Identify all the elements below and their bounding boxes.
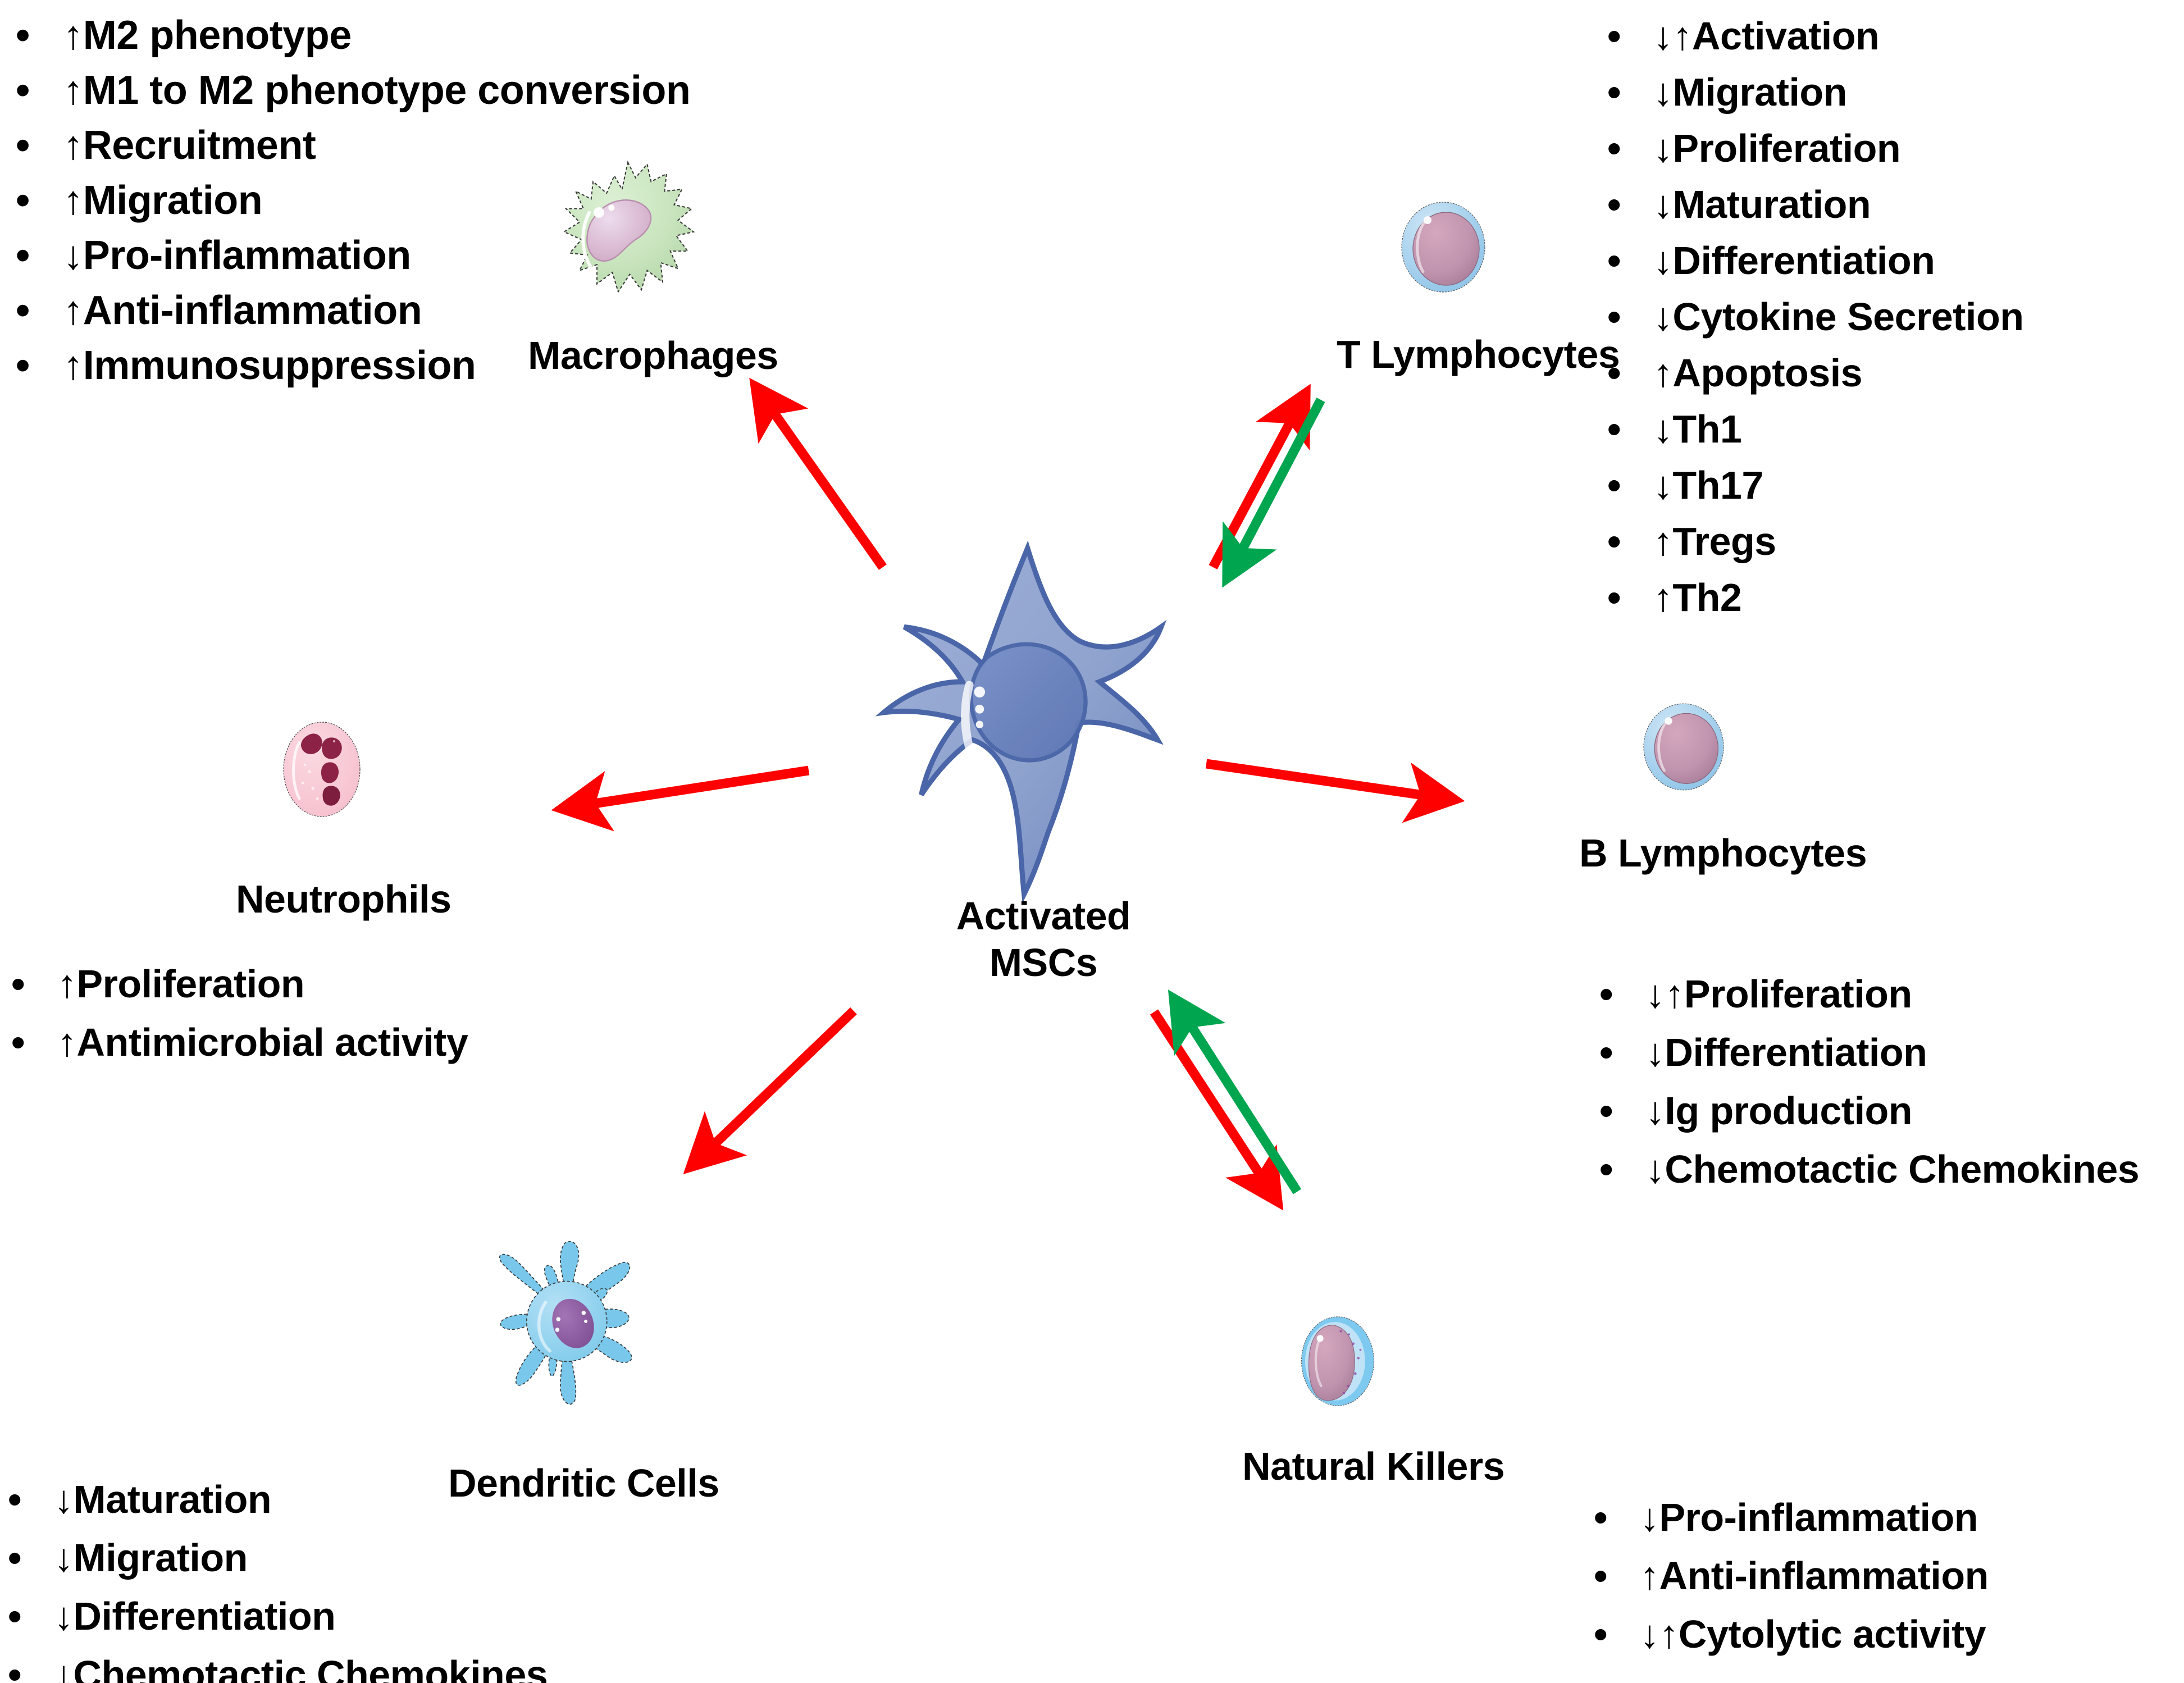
bullet-gap — [1624, 1023, 1645, 1082]
bullet-gap — [41, 63, 63, 118]
bullet-icon: • — [1607, 401, 1631, 457]
effect-label: Differentiation — [1672, 232, 1935, 289]
cell-illustration-t-lymphocyte — [1402, 202, 1485, 292]
arrow-down-icon: ↓ — [1645, 1082, 1665, 1140]
bullet-icon: • — [1594, 1547, 1618, 1605]
bullet-icon: • — [1599, 1140, 1624, 1198]
bullet-gap — [1618, 1605, 1640, 1663]
arrow-up-icon: ↑ — [63, 63, 83, 118]
bullet-gap — [1624, 965, 1645, 1023]
bullet-icon: • — [11, 955, 35, 1013]
effect-item: • ↑M2 phenotype — [16, 8, 690, 63]
cell-label-b-lymphocytes: B Lymphocytes — [1579, 830, 1867, 877]
effect-label: Chemotactic Chemokines — [73, 1645, 548, 1683]
effect-item: • ↓Maturation — [1607, 176, 2023, 232]
bullet-icon: • — [1599, 1023, 1624, 1082]
effect-label: Proliferation — [1684, 965, 1912, 1023]
bullet-icon: • — [8, 1587, 32, 1645]
arrow-up-icon: ↑ — [1653, 569, 1673, 626]
effect-item: • ↑Proliferation — [11, 955, 468, 1013]
arrow-up-icon: ↑ — [1653, 345, 1673, 401]
arrow-naturalkillers-to-msc — [1174, 998, 1297, 1192]
effect-label: Anti-inflammation — [1659, 1547, 1988, 1605]
arrow-down-icon: ↓ — [1645, 1140, 1665, 1198]
arrow-down-icon: ↓ — [1653, 289, 1673, 345]
arrow-down-icon: ↓ — [1653, 120, 1673, 176]
bullet-icon: • — [1607, 457, 1631, 513]
arrow-up-icon: ↑ — [63, 283, 83, 338]
bullet-icon: • — [8, 1529, 32, 1587]
bullet-gap — [1631, 289, 1653, 345]
bullet-gap — [41, 283, 63, 338]
bullet-icon: • — [8, 1470, 32, 1529]
effect-item: • ↓Differentiation — [1599, 1023, 2139, 1082]
arrow-up-icon: ↑ — [63, 173, 83, 228]
effect-item: • ↑Antimicrobial activity — [11, 1013, 468, 1071]
arrow-up-icon: ↑ — [57, 1013, 77, 1071]
bullet-gap — [32, 1645, 54, 1683]
arrow-updown-icon: ↓↑ — [1640, 1605, 1679, 1663]
bullet-gap — [41, 8, 63, 63]
effect-label: Maturation — [73, 1470, 271, 1529]
bullet-icon: • — [1594, 1605, 1618, 1663]
effect-label: Th2 — [1672, 569, 1741, 626]
arrow-msc-to-dendriticcells — [691, 1011, 854, 1167]
bullet-gap — [41, 173, 63, 228]
effect-item: • ↑Apoptosis — [1607, 345, 2023, 401]
bullet-gap — [1631, 176, 1653, 232]
bullet-gap — [32, 1470, 54, 1529]
bullet-gap — [1631, 232, 1653, 289]
center-label-line1: Activated — [937, 893, 1150, 939]
effect-label: Immunosuppression — [83, 338, 476, 393]
arrow-msc-to-macrophages — [755, 386, 883, 567]
arrow-msc-to-tlymphocytes — [1213, 393, 1306, 567]
diagram-canvas: • ↑M2 phenotype• ↑M1 to M2 phenotype con… — [0, 0, 2184, 1683]
arrow-down-icon: ↓ — [1645, 1023, 1665, 1082]
effect-label: Cytolytic activity — [1679, 1605, 1986, 1663]
cell-illustration-dendritic-cell — [500, 1242, 632, 1404]
arrow-down-icon: ↓ — [63, 228, 83, 283]
bullet-icon: • — [16, 338, 41, 393]
effect-item: • ↓Migration — [1607, 64, 2023, 120]
effect-label: Pro-inflammation — [83, 228, 411, 283]
bullet-icon: • — [1594, 1488, 1618, 1547]
bullet-icon: • — [16, 173, 41, 228]
bullet-gap — [41, 228, 63, 283]
bullet-icon: • — [1599, 965, 1624, 1023]
arrow-msc-to-naturalkillers — [1154, 1012, 1278, 1202]
arrow-msc-to-neutrophils — [562, 770, 809, 809]
bullet-gap — [1624, 1082, 1645, 1140]
bullet-gap — [32, 1587, 54, 1645]
arrow-down-icon: ↓ — [54, 1645, 74, 1683]
arrow-down-icon: ↓ — [54, 1470, 74, 1529]
bullet-icon: • — [16, 228, 41, 283]
effects-list-dendritic-cells: • ↓Maturation• ↓Migration• ↓Differentiat… — [8, 1470, 548, 1683]
bullet-icon: • — [1607, 120, 1631, 176]
effect-label: Migration — [73, 1529, 247, 1587]
effect-item: • ↓↑Activation — [1607, 8, 2023, 64]
effect-item: • ↓Th17 — [1607, 457, 2023, 513]
effect-item: • ↓Differentiation — [1607, 232, 2023, 289]
cell-label-neutrophils: Neutrophils — [236, 876, 451, 923]
effect-item: • ↓↑Cytolytic activity — [1594, 1605, 1989, 1663]
bullet-gap — [1624, 1140, 1645, 1198]
bullet-icon: • — [16, 283, 41, 338]
arrow-down-icon: ↓ — [54, 1587, 74, 1645]
effect-label: Differentiation — [73, 1587, 335, 1645]
bullet-icon: • — [1607, 569, 1631, 626]
bullet-icon: • — [1607, 64, 1631, 120]
effect-label: Th1 — [1672, 401, 1741, 457]
effects-list-b-lymphocytes: • ↓↑Proliferation• ↓Differentiation• ↓Ig… — [1599, 965, 2139, 1198]
effect-label: Cytokine Secretion — [1672, 289, 2023, 345]
cell-label-t-lymphocytes: T Lymphocytes — [1337, 331, 1620, 378]
effect-item: • ↓Proliferation — [1607, 120, 2023, 176]
effect-label: Apoptosis — [1672, 345, 1862, 401]
bullet-icon: • — [16, 118, 41, 173]
bullet-gap — [1631, 457, 1653, 513]
arrow-down-icon: ↓ — [1653, 232, 1673, 289]
effect-item: • ↑Migration — [16, 173, 690, 228]
arrow-updown-icon: ↓↑ — [1645, 965, 1684, 1023]
effect-label: Anti-inflammation — [83, 283, 422, 338]
arrow-msc-to-blymphocytes — [1206, 764, 1455, 800]
effect-label: Proliferation — [76, 955, 304, 1013]
bullet-gap — [1631, 8, 1653, 64]
cell-label-natural-killers: Natural Killers — [1242, 1443, 1504, 1490]
cell-illustration-b-lymphocyte — [1644, 704, 1724, 790]
effect-label: M1 to M2 phenotype conversion — [83, 63, 691, 118]
arrow-down-icon: ↓ — [1640, 1488, 1659, 1547]
arrow-group — [562, 386, 1455, 1202]
bullet-gap — [1631, 513, 1653, 569]
effect-item: • ↓Th1 — [1607, 401, 2023, 457]
effects-list-natural-killers: • ↓Pro-inflammation• ↑Anti-inflammation•… — [1594, 1488, 1989, 1663]
bullet-icon: • — [1607, 232, 1631, 289]
effect-label: Pro-inflammation — [1659, 1488, 1978, 1547]
bullet-icon: • — [1607, 8, 1631, 64]
bullet-gap — [1631, 120, 1653, 176]
cell-illustration-natural-killer — [1302, 1317, 1374, 1406]
effect-label: Tregs — [1672, 513, 1776, 569]
effect-label: Recruitment — [83, 118, 316, 173]
arrow-down-icon: ↓ — [1653, 64, 1673, 120]
bullet-gap — [35, 1013, 57, 1071]
effect-label: Migration — [1672, 64, 1846, 120]
effect-item: • ↑Th2 — [1607, 569, 2023, 626]
center-label-activated-mscs: Activated MSCs — [937, 893, 1150, 986]
arrow-down-icon: ↓ — [1653, 401, 1673, 457]
arrow-up-icon: ↑ — [63, 118, 83, 173]
effect-item: • ↓Pro-inflammation — [1594, 1488, 1989, 1547]
cell-label-macrophages: Macrophages — [528, 332, 778, 379]
effect-item: • ↓Differentiation — [8, 1587, 548, 1645]
arrow-up-icon: ↑ — [57, 955, 77, 1013]
effect-item: • ↓Chemotactic Chemokines — [1599, 1140, 2139, 1198]
bullet-gap — [1618, 1488, 1640, 1547]
effect-item: • ↑Anti-inflammation — [1594, 1547, 1989, 1605]
arrow-up-icon: ↑ — [63, 338, 83, 393]
bullet-gap — [1631, 345, 1653, 401]
bullet-gap — [1631, 64, 1653, 120]
bullet-icon: • — [16, 8, 41, 63]
bullet-icon: • — [1607, 513, 1631, 569]
bullet-gap — [41, 118, 63, 173]
effect-item: • ↓Migration — [8, 1529, 548, 1587]
effect-item: • ↑Anti-inflammation — [16, 283, 690, 338]
effect-label: Ig production — [1665, 1082, 1912, 1140]
effect-label: Antimicrobial activity — [76, 1013, 468, 1071]
effect-label: M2 phenotype — [83, 8, 352, 63]
cell-illustration-neutrophil — [284, 722, 360, 817]
effect-label: Proliferation — [1672, 120, 1900, 176]
effect-label: Differentiation — [1665, 1023, 1927, 1082]
effect-label: Maturation — [1672, 176, 1871, 232]
arrow-up-icon: ↑ — [1640, 1547, 1659, 1605]
cell-illustration-activated-msc — [884, 548, 1161, 894]
bullet-icon: • — [1599, 1082, 1624, 1140]
arrow-tlymphocytes-to-msc — [1227, 400, 1321, 578]
bullet-gap — [35, 955, 57, 1013]
effect-item: • ↑M1 to M2 phenotype conversion — [16, 63, 690, 118]
center-label-line2: MSCs — [937, 939, 1150, 986]
effect-label: Activation — [1692, 8, 1879, 64]
arrow-down-icon: ↓ — [1653, 176, 1673, 232]
effect-label: Chemotactic Chemokines — [1665, 1140, 2139, 1198]
bullet-gap — [1631, 401, 1653, 457]
effect-label: Migration — [83, 173, 262, 228]
effect-item: • ↓Chemotactic Chemokines — [8, 1645, 548, 1683]
arrow-down-icon: ↓ — [1653, 457, 1673, 513]
effect-item: • ↓↑Proliferation — [1599, 965, 2139, 1023]
bullet-gap — [1618, 1547, 1640, 1605]
arrow-up-icon: ↑ — [1653, 513, 1673, 569]
effect-label: Th17 — [1672, 457, 1763, 513]
bullet-icon: • — [16, 63, 41, 118]
arrow-updown-icon: ↓↑ — [1653, 8, 1692, 64]
bullet-gap — [32, 1529, 54, 1587]
bullet-icon: • — [1607, 176, 1631, 232]
effects-list-neutrophils: • ↑Proliferation• ↑Antimicrobial activit… — [11, 955, 468, 1071]
arrow-down-icon: ↓ — [54, 1529, 74, 1587]
effect-item: • ↑Recruitment — [16, 118, 690, 173]
bullet-icon: • — [11, 1013, 35, 1071]
bullet-gap — [41, 338, 63, 393]
bullet-gap — [1631, 569, 1653, 626]
effect-item: • ↓Ig production — [1599, 1082, 2139, 1140]
bullet-icon: • — [8, 1645, 32, 1683]
arrow-up-icon: ↑ — [63, 8, 83, 63]
effect-item: • ↓Pro-inflammation — [16, 228, 690, 283]
effect-item: • ↓Maturation — [8, 1470, 548, 1529]
effect-item: • ↓Cytokine Secretion — [1607, 289, 2023, 345]
effect-item: • ↑Tregs — [1607, 513, 2023, 569]
effects-list-t-lymphocytes: • ↓↑Activation• ↓Migration• ↓Proliferati… — [1607, 8, 2023, 626]
